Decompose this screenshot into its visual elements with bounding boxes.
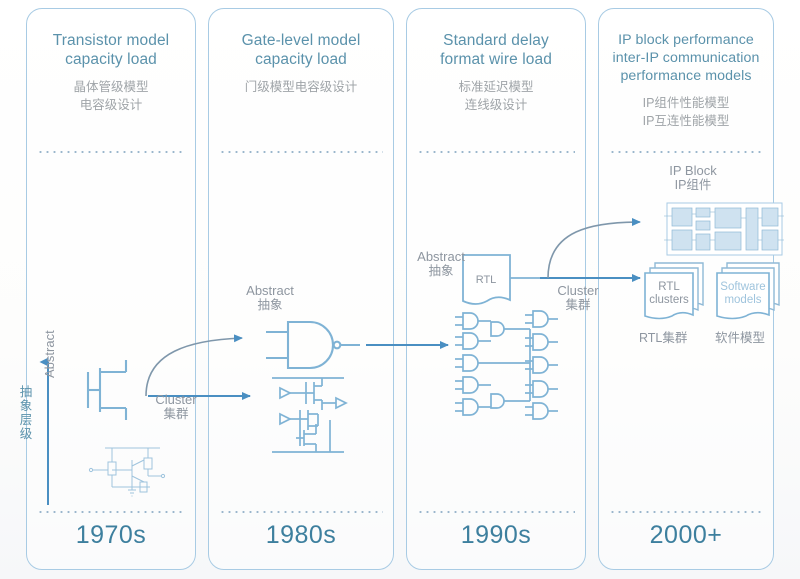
footer-divider: [219, 511, 383, 513]
heading-line: Standard delay: [443, 32, 549, 49]
footer-divider: [37, 511, 185, 513]
caption-rtl-clusters-cn: RTL集群: [639, 327, 687, 346]
panel-header-standard-delay: Standard delay format wire load 标准延迟模型 连…: [407, 9, 585, 149]
heading-cn-line: IP组件性能模型: [643, 96, 730, 110]
header-divider: [37, 151, 185, 153]
panel-header-transistor: Transistor model capacity load 晶体管级模型 电容…: [27, 9, 195, 149]
decade-label-1970s: 1970s: [27, 521, 195, 550]
heading-line: inter-IP communication: [612, 50, 759, 66]
heading-line: IP block performance: [618, 32, 754, 48]
footer-divider: [609, 511, 763, 513]
heading-line: capacity load: [255, 51, 347, 68]
label-abstract-2: Abstract 抽象: [238, 283, 302, 313]
header-divider: [609, 151, 763, 153]
label-abstract-3: Abstract 抽象: [409, 249, 473, 279]
heading-cn-line: IP互连性能模型: [643, 114, 730, 128]
label-abstract-3-en: Abstract: [409, 249, 473, 264]
heading-cn-line: 门级模型电容级设计: [245, 80, 358, 94]
panel-header-ip-block: IP block performance inter-IP communicat…: [599, 9, 773, 149]
heading-line: Gate-level model: [242, 32, 361, 49]
label-cluster-3-cn: 集群: [546, 298, 610, 313]
label-ip-block-en: IP Block: [648, 163, 738, 178]
panel-header-gate-level: Gate-level model capacity load 门级模型电容级设计: [209, 9, 393, 149]
header-divider: [219, 151, 383, 153]
label-ip-block: IP Block IP组件: [648, 163, 738, 193]
heading-line: capacity load: [65, 51, 157, 68]
heading-line: format wire load: [440, 51, 552, 68]
column-panel-ip-block: IP block performance inter-IP communicat…: [598, 8, 774, 570]
heading-cn-line: 电容级设计: [80, 98, 143, 112]
heading-line: Transistor model: [53, 32, 169, 49]
label-abstract-3-cn: 抽象: [409, 264, 473, 279]
label-ip-block-cn: IP组件: [648, 178, 738, 193]
header-divider: [417, 151, 575, 153]
caption-software-models-cn: 软件模型: [715, 327, 765, 346]
decade-label-2000plus: 2000+: [599, 521, 773, 550]
footer-divider: [417, 511, 575, 513]
label-cluster-1: Cluster 集群: [144, 392, 208, 422]
label-cluster-3-en: Cluster: [546, 283, 610, 298]
heading-cn-line: 晶体管级模型: [73, 80, 148, 94]
heading-cn-line: 连线级设计: [465, 98, 528, 112]
label-cluster-1-en: Cluster: [144, 392, 208, 407]
decade-label-1980s: 1980s: [209, 521, 393, 550]
label-cluster-3: Cluster 集群: [546, 283, 610, 313]
abstract-axis-label-cn: 抽象层级: [18, 385, 34, 441]
label-cluster-1-cn: 集群: [144, 407, 208, 422]
abstraction-evolution-diagram: Transistor model capacity load 晶体管级模型 电容…: [0, 0, 800, 579]
column-panel-transistor: Transistor model capacity load 晶体管级模型 电容…: [26, 8, 196, 570]
label-abstract-2-en: Abstract: [238, 283, 302, 298]
label-abstract-2-cn: 抽象: [238, 298, 302, 313]
heading-cn-line: 标准延迟模型: [458, 80, 533, 94]
decade-label-1990s: 1990s: [407, 521, 585, 550]
heading-line: performance models: [620, 68, 751, 84]
abstract-axis-label-en: Abstract: [42, 330, 57, 378]
